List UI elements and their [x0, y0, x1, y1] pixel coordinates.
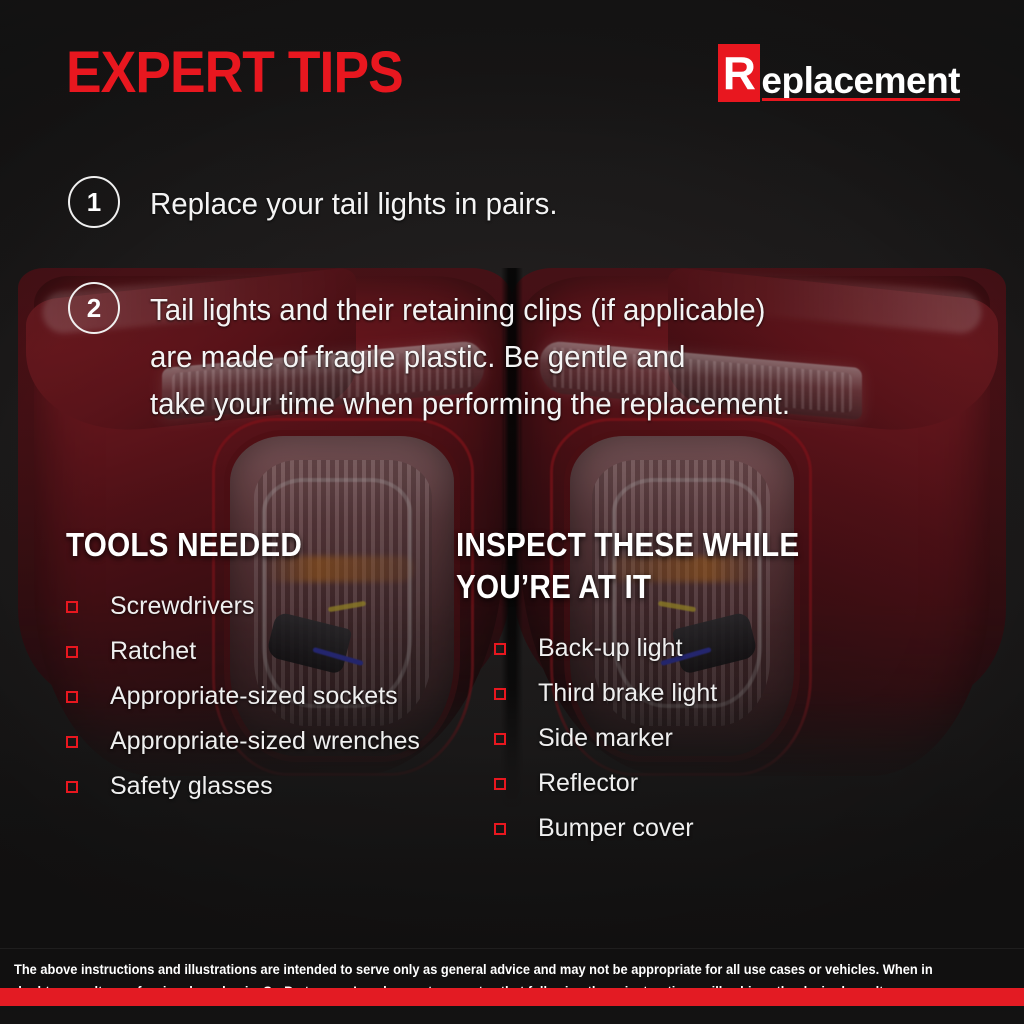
list-item: Appropriate-sized wrenches: [66, 719, 456, 764]
footer: The above instructions and illustrations…: [0, 948, 1024, 1006]
checkbox-icon: [66, 691, 78, 703]
list-item-label: Screwdrivers: [110, 592, 254, 621]
tip-number-badge: 1: [68, 176, 120, 228]
list-item: Reflector: [456, 761, 856, 806]
page-title: EXPERT TIPS: [66, 44, 403, 102]
list-item: Bumper cover: [456, 806, 856, 851]
checkbox-icon: [494, 643, 506, 655]
list-item-label: Back-up light: [538, 634, 683, 663]
checkbox-icon: [66, 601, 78, 613]
list-item: Side marker: [456, 716, 856, 761]
list-item: Screwdrivers: [66, 584, 456, 629]
replacement-logo: R eplacement: [718, 40, 960, 102]
footer-accent-bar: [0, 988, 1024, 1006]
list-item-label: Bumper cover: [538, 814, 694, 843]
list-item: Appropriate-sized sockets: [66, 674, 456, 719]
checkbox-icon: [494, 778, 506, 790]
checkbox-icon: [66, 781, 78, 793]
list-item-label: Ratchet: [110, 637, 196, 666]
logo-wordmark: eplacement: [761, 62, 960, 102]
list-item: Safety glasses: [66, 764, 456, 809]
tip-text: Tail lights and their retaining clips (i…: [150, 286, 790, 427]
tip-item-2: 2 Tail lights and their retaining clips …: [68, 286, 824, 427]
checkbox-icon: [494, 688, 506, 700]
tools-needed-section: TOOLS NEEDED Screwdrivers Ratchet Approp…: [66, 524, 456, 809]
inspect-these-section: INSPECT THESE WHILE YOU’RE AT IT Back-up…: [456, 524, 856, 851]
checkbox-icon: [494, 823, 506, 835]
logo-r-mark: R: [718, 44, 760, 102]
content-layer: EXPERT TIPS R eplacement 1 Replace your …: [0, 0, 1024, 1024]
tip-text: Replace your tail lights in pairs.: [150, 180, 558, 227]
list-item-label: Appropriate-sized wrenches: [110, 727, 420, 756]
expert-tips-infographic: EXPERT TIPS R eplacement 1 Replace your …: [0, 0, 1024, 1024]
tools-needed-heading: TOOLS NEEDED: [66, 524, 417, 566]
tip-item-1: 1 Replace your tail lights in pairs.: [68, 180, 579, 228]
logo-underline: [762, 98, 960, 101]
list-item-label: Reflector: [538, 769, 638, 798]
checkbox-icon: [66, 736, 78, 748]
checkbox-icon: [66, 646, 78, 658]
list-item: Back-up light: [456, 626, 856, 671]
tip-number-badge: 2: [68, 282, 120, 334]
logo-wordmark-text: eplacement: [761, 60, 960, 101]
list-item-label: Third brake light: [538, 679, 717, 708]
list-item-label: Side marker: [538, 724, 673, 753]
inspect-these-list: Back-up light Third brake light Side mar…: [456, 626, 856, 851]
tools-needed-list: Screwdrivers Ratchet Appropriate-sized s…: [66, 584, 456, 809]
checkbox-icon: [494, 733, 506, 745]
list-item-label: Safety glasses: [110, 772, 273, 801]
list-item: Ratchet: [66, 629, 456, 674]
inspect-these-heading: INSPECT THESE WHILE YOU’RE AT IT: [456, 524, 816, 608]
list-item: Third brake light: [456, 671, 856, 716]
list-item-label: Appropriate-sized sockets: [110, 682, 398, 711]
